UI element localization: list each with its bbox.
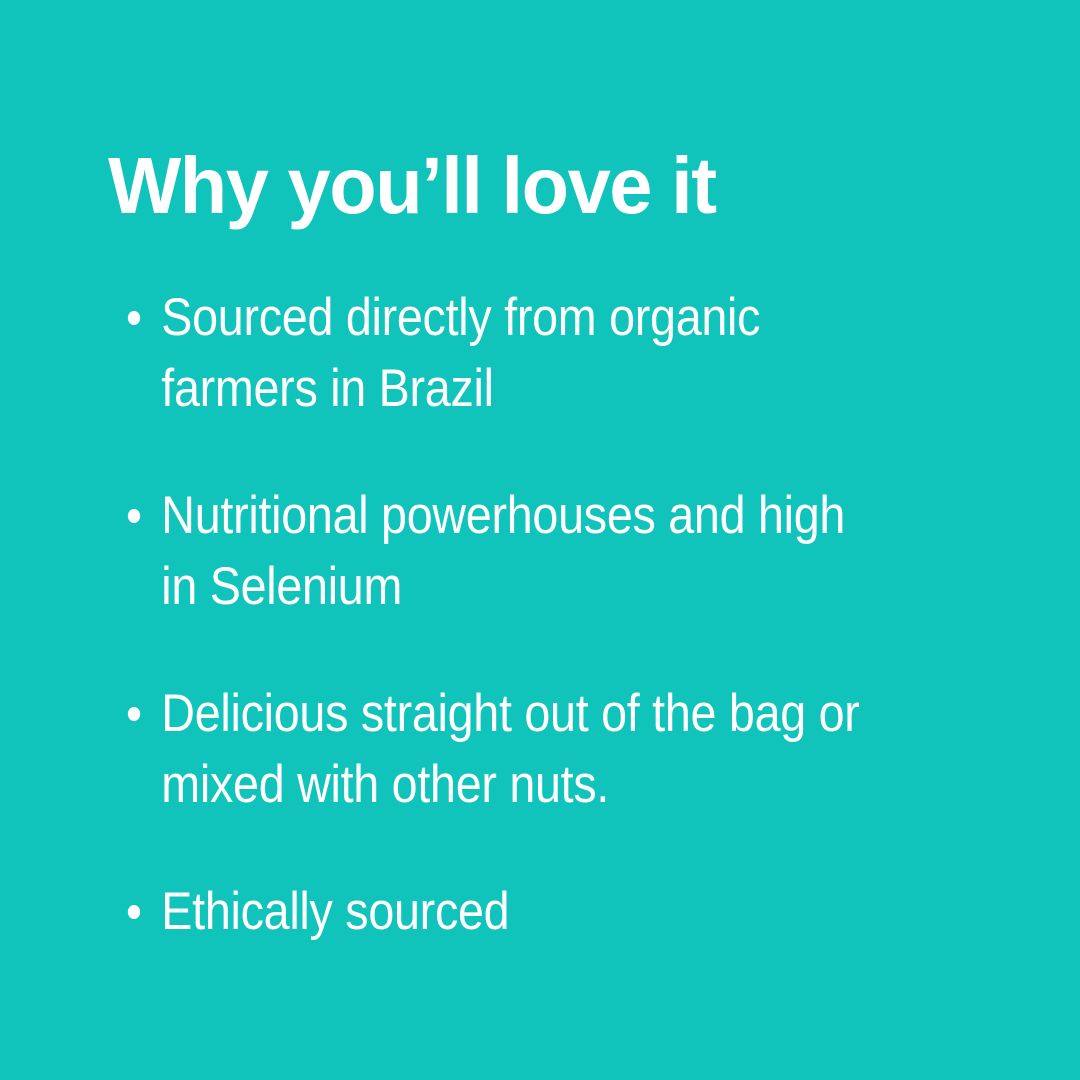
list-item: Ethically sourced xyxy=(112,876,869,947)
list-item-label: Nutritional powerhouses and high in Sele… xyxy=(161,480,869,622)
list-item: Sourced directly from organic farmers in… xyxy=(112,282,869,424)
bullet-point-icon xyxy=(128,707,140,721)
list-item: Delicious straight out of the bag or mix… xyxy=(112,678,869,820)
bullet-point-icon xyxy=(128,509,140,523)
page-title: Why you’ll love it xyxy=(108,146,716,226)
list-item: Nutritional powerhouses and high in Sele… xyxy=(112,480,869,622)
bullet-point-icon xyxy=(128,905,140,919)
bullet-point-icon xyxy=(128,311,140,325)
list-item-label: Delicious straight out of the bag or mix… xyxy=(161,678,869,820)
list-item-label: Ethically sourced xyxy=(161,876,869,947)
promo-slide: Why you’ll love it Sourced directly from… xyxy=(0,0,1080,1080)
benefit-list: Sourced directly from organic farmers in… xyxy=(112,282,972,947)
list-item-label: Sourced directly from organic farmers in… xyxy=(161,282,869,424)
